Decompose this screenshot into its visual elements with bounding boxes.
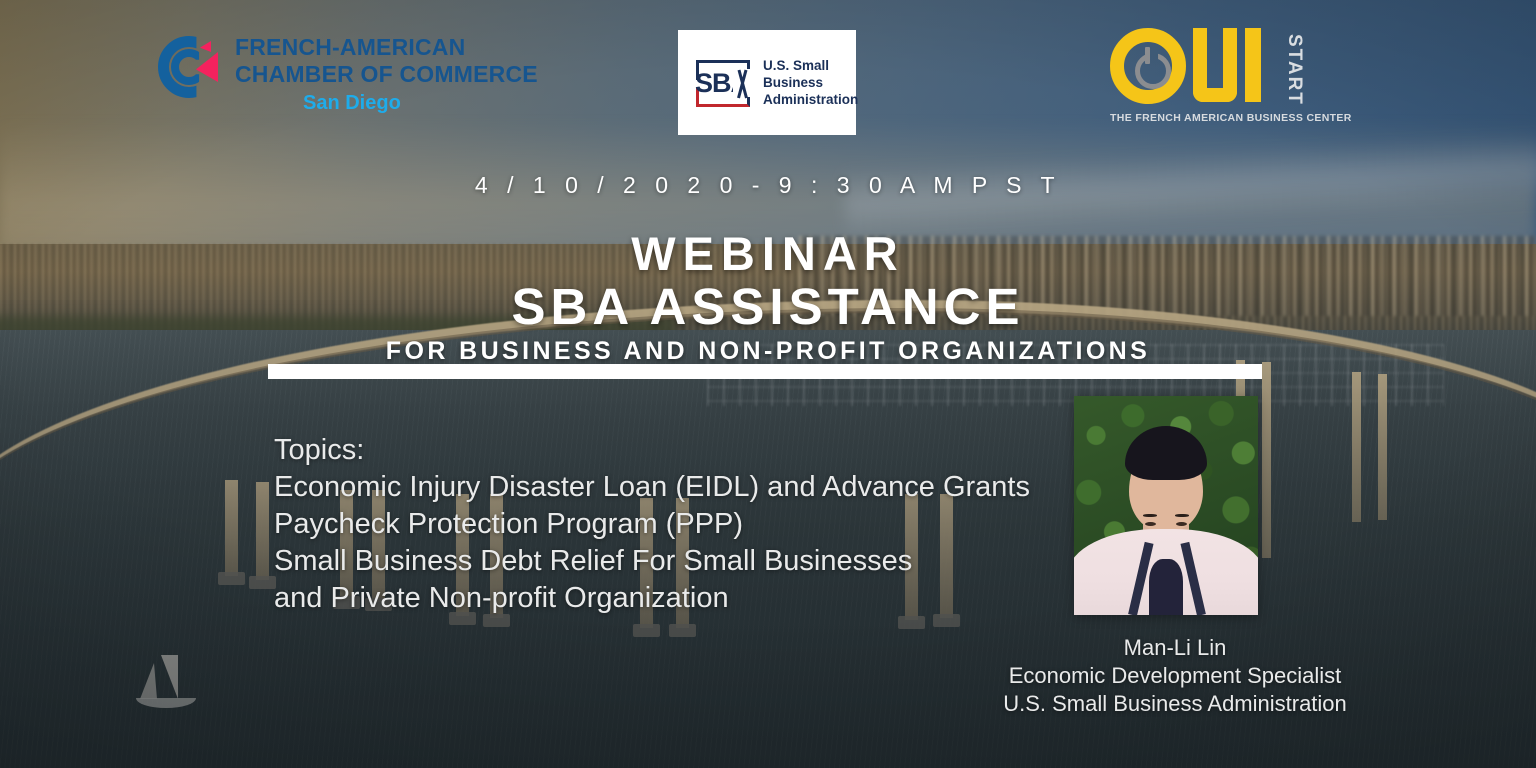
power-button-icon [1135,53,1171,89]
speaker-role: Economic Development Specialist [960,662,1390,690]
sba-chevron-icon [733,69,751,97]
speaker-photo [1074,396,1258,615]
facc-logo-text: FRENCH-AMERICAN CHAMBER OF COMMERCE San … [235,34,538,118]
topic-item: Small Business Debt Relief For Small Bus… [274,543,1034,580]
sba-title-line-2: Administration [763,91,858,108]
sba-title-line-1: U.S. Small Business [763,57,858,91]
webinar-flyer: FRENCH-AMERICAN CHAMBER OF COMMERCE San … [0,0,1536,768]
logo-row: FRENCH-AMERICAN CHAMBER OF COMMERCE San … [0,0,1536,150]
topics-heading: Topics: [274,432,1034,469]
oui-wordmark: START [1110,28,1300,108]
facc-line-1: FRENCH-AMERICAN [235,34,538,61]
speaker-organization: U.S. Small Business Administration [960,690,1390,718]
speaker-caption: Man-Li Lin Economic Development Speciali… [960,634,1390,718]
power-button-bar [1145,47,1150,64]
topics-list: Topics: Economic Injury Disaster Loan (E… [274,432,1034,617]
title-line-webinar: WEBINAR [0,228,1536,280]
sba-logo: SBA U.S. Small Business Administration [678,30,856,135]
title-line-sba-assistance: SBA ASSISTANCE [0,280,1536,334]
oui-letter-i [1245,28,1261,102]
cci-circle-icon [158,36,220,98]
oui-letter-u [1193,28,1237,102]
facc-logo: FRENCH-AMERICAN CHAMBER OF COMMERCE San … [158,34,538,118]
flyer-content: FRENCH-AMERICAN CHAMBER OF COMMERCE San … [0,0,1536,768]
sba-logo-text: U.S. Small Business Administration [763,57,858,108]
speaker-jacket [1074,529,1258,615]
oui-letter-o [1110,28,1186,104]
white-divider-bar [268,364,1262,379]
topic-item: and Private Non-profit Organization [274,580,1034,617]
speaker-name: Man-Li Lin [960,634,1390,662]
event-subtitle: FOR BUSINESS AND NON-PROFIT ORGANIZATION… [0,336,1536,366]
facc-line-2: CHAMBER OF COMMERCE [235,61,538,88]
topic-item: Paycheck Protection Program (PPP) [274,506,1034,543]
event-title-block: WEBINAR SBA ASSISTANCE FOR BUSINESS AND … [0,228,1536,366]
speaker-blouse [1149,559,1183,615]
event-datetime: 4 / 1 0 / 2 0 2 0 - 9 : 3 0 A M P S T [0,172,1536,199]
jacket-lapel-right [1180,542,1205,615]
oui-start-vertical: START [1285,34,1304,106]
oui-start-logo: START THE FRENCH AMERICAN BUSINESS CENTE… [1110,28,1300,136]
facc-city: San Diego [303,88,538,118]
oui-tagline: THE FRENCH AMERICAN BUSINESS CENTER [1110,112,1300,124]
topic-item: Economic Injury Disaster Loan (EIDL) and… [274,469,1034,506]
sba-mark-icon: SBA [690,57,754,109]
